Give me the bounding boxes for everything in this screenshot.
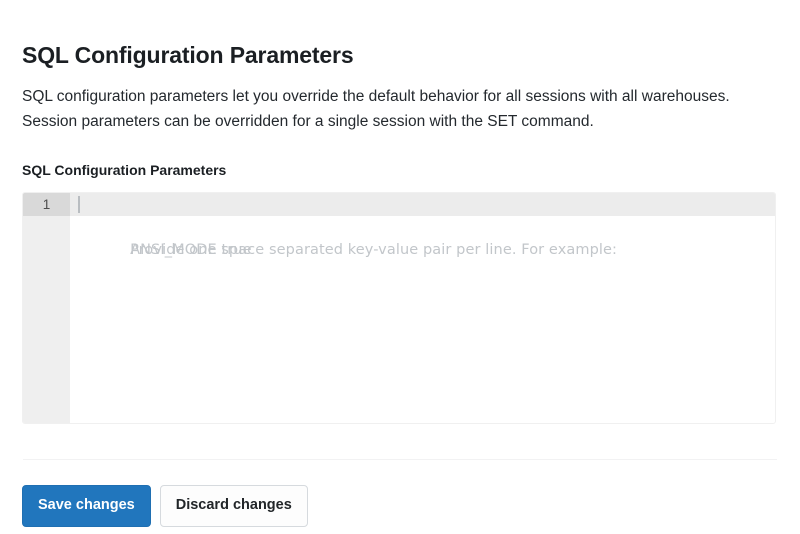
editor-text-area[interactable]: Provide one space separated key-value pa… [70,193,775,423]
section-divider [23,459,777,460]
editor-placeholder-line-1: Provide one space separated key-value pa… [70,193,775,216]
page-description-line-2: Session parameters can be overridden for… [22,113,594,130]
sql-configuration-parameters-label: SQL Configuration Parameters [22,134,778,180]
editor-line-number-1: 1 [23,193,70,216]
editor-placeholder-line-2: ANSI_MODE true [70,216,775,239]
sql-configuration-parameters-page: SQL Configuration Parameters SQL configu… [0,0,800,534]
editor-placeholder-line-2-text: ANSI_MODE true [130,242,252,258]
sql-configuration-parameters-editor[interactable]: 1 Provide one space separated key-value … [22,192,776,424]
text-cursor-caret [78,196,80,213]
page-description: SQL configuration parameters let you ove… [22,70,754,134]
form-actions: Save changes Discard changes [22,485,778,527]
editor-line-number-gutter: 1 [23,193,70,423]
page-title: SQL Configuration Parameters [22,0,778,70]
page-description-line-1: SQL configuration parameters let you ove… [22,88,730,105]
discard-changes-button[interactable]: Discard changes [160,485,308,527]
save-changes-button[interactable]: Save changes [22,485,151,527]
page-content: SQL Configuration Parameters SQL configu… [22,0,778,527]
